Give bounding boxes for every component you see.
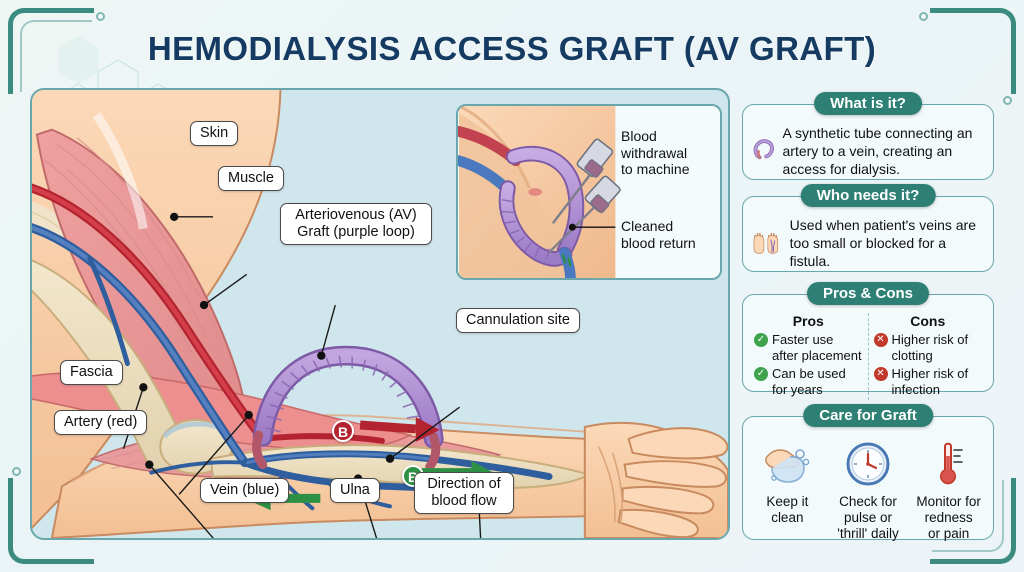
cons-column: Cons ✕ Higher risk of clotting ✕ Higher … bbox=[868, 313, 988, 400]
card-pros-cons: Pros & Cons Pros ✓ Faster use after plac… bbox=[742, 294, 994, 392]
label-flow-line2: blood flow bbox=[431, 493, 496, 509]
care-monitor-line3: or pain bbox=[928, 526, 969, 541]
care-item-check-thrill: Check for pulse or 'thrill' daily bbox=[828, 437, 909, 543]
cons-item-text: Higher risk of infection bbox=[892, 366, 983, 397]
label-cannulation-site: Cannulation site bbox=[456, 308, 580, 333]
label-av-graft-line2: Graft (purple loop) bbox=[297, 224, 415, 240]
label-muscle: Muscle bbox=[218, 166, 284, 191]
inset-return-line1: Cleaned bbox=[621, 218, 673, 234]
card-care-for-graft: Care for Graft Keep it clean bbox=[742, 416, 994, 540]
care-monitor-line1: Monitor for bbox=[916, 494, 981, 509]
cons-header: Cons bbox=[874, 313, 983, 329]
care-item-keep-clean: Keep it clean bbox=[747, 437, 828, 543]
inset-label-blood-withdrawal: Blood withdrawal to machine bbox=[621, 128, 689, 178]
label-flow-line1: Direction of bbox=[427, 476, 500, 492]
page-title: HEMODIALYSIS ACCESS GRAFT (AV GRAFT) bbox=[0, 30, 1024, 68]
care-monitor-line2: redness bbox=[925, 510, 973, 525]
clock-icon bbox=[845, 441, 891, 487]
label-ulna: Ulna bbox=[330, 478, 380, 503]
frame-node-icon bbox=[919, 12, 928, 21]
two-hands-icon bbox=[753, 217, 782, 267]
check-icon: ✓ bbox=[754, 333, 768, 347]
card-who-needs-it-title: Who needs it? bbox=[801, 184, 936, 207]
card-who-needs-it: Who needs it? Used when patient's veins … bbox=[742, 196, 994, 272]
pros-item: ✓ Faster use after placement bbox=[754, 332, 863, 363]
cons-item-text: Higher risk of clotting bbox=[892, 332, 983, 363]
anatomy-diagram-panel: B B Skin Muscle Arteriovenous (AV) Graft… bbox=[30, 88, 730, 540]
pros-item-text: Can be used for years bbox=[772, 366, 863, 397]
pros-header: Pros bbox=[754, 313, 863, 329]
badge-artery-flow: B bbox=[332, 420, 354, 442]
card-what-is-it-body: A synthetic tube connecting an artery to… bbox=[783, 125, 984, 179]
card-care-title: Care for Graft bbox=[803, 404, 933, 427]
care-keep-clean-line2: clean bbox=[771, 510, 803, 525]
label-blood-flow-direction: Direction of blood flow bbox=[414, 472, 514, 514]
cannulation-inset-panel: Blood withdrawal to machine Cleaned bloo… bbox=[456, 104, 722, 280]
infographic-stage: HEMODIALYSIS ACCESS GRAFT (AV GRAFT) bbox=[0, 0, 1024, 572]
card-what-is-it: What is it? A synthetic tube connecting … bbox=[742, 104, 994, 180]
inset-label-cleaned-blood-return: Cleaned blood return bbox=[621, 218, 696, 251]
handwash-icon bbox=[762, 442, 812, 486]
label-fascia: Fascia bbox=[60, 360, 123, 385]
frame-node-icon bbox=[96, 12, 105, 21]
av-graft-loop-icon bbox=[753, 125, 775, 173]
inset-withdrawal-line3: to machine bbox=[621, 161, 689, 177]
pros-column: Pros ✓ Faster use after placement ✓ Can … bbox=[749, 313, 868, 400]
pros-item: ✓ Can be used for years bbox=[754, 366, 863, 397]
care-item-monitor: Monitor for redness or pain bbox=[908, 437, 989, 543]
inset-withdrawal-line1: Blood bbox=[621, 128, 657, 144]
thermometer-icon bbox=[932, 440, 966, 488]
cross-icon: ✕ bbox=[874, 333, 888, 347]
pros-item-text: Faster use after placement bbox=[772, 332, 863, 363]
card-pros-cons-title: Pros & Cons bbox=[807, 282, 929, 305]
card-what-is-it-title: What is it? bbox=[814, 92, 922, 115]
care-keep-clean-line1: Keep it bbox=[766, 494, 808, 509]
cons-item: ✕ Higher risk of infection bbox=[874, 366, 983, 397]
inset-withdrawal-line2: withdrawal bbox=[621, 145, 687, 161]
inset-return-line2: blood return bbox=[621, 235, 696, 251]
frame-node-icon bbox=[12, 467, 21, 476]
cross-icon: ✕ bbox=[874, 367, 888, 381]
label-av-graft-line1: Arteriovenous (AV) bbox=[295, 207, 416, 223]
label-artery: Artery (red) bbox=[54, 410, 147, 435]
card-who-needs-it-body: Used when patient's veins are too small … bbox=[790, 217, 983, 271]
care-thrill-line3: 'thrill' daily bbox=[837, 526, 898, 541]
check-icon: ✓ bbox=[754, 367, 768, 381]
care-thrill-line2: pulse or bbox=[844, 510, 892, 525]
frame-node-icon bbox=[1003, 96, 1012, 105]
care-thrill-line1: Check for bbox=[839, 494, 897, 509]
label-skin: Skin bbox=[190, 121, 238, 146]
cons-item: ✕ Higher risk of clotting bbox=[874, 332, 983, 363]
label-vein: Vein (blue) bbox=[200, 478, 289, 503]
label-av-graft: Arteriovenous (AV) Graft (purple loop) bbox=[280, 203, 432, 245]
